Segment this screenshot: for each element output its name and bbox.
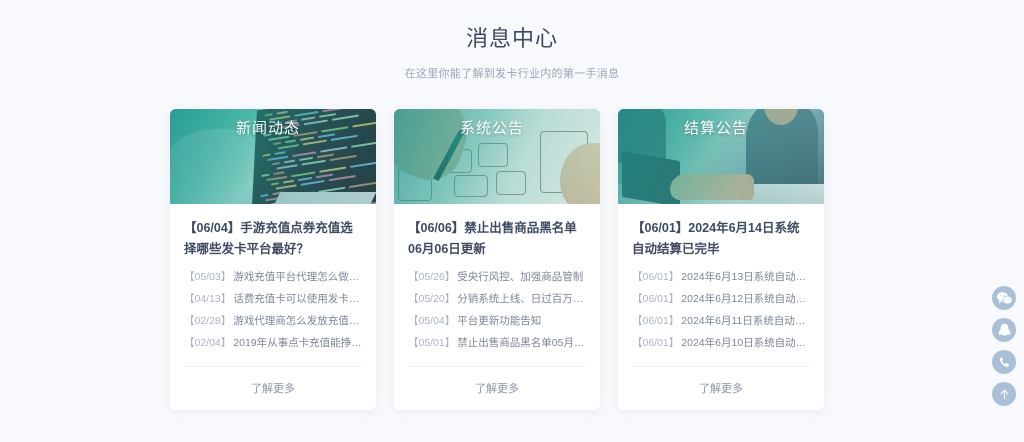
page-root: 消息中心 在这里你能了解到发卡行业内的第一手消息 新闻动态 【06/04】手游充… <box>0 0 1024 442</box>
list-item-text: 游戏代理商怎么发放充值码？发卡... <box>233 310 362 332</box>
list-item[interactable]: 【02/28】 游戏代理商怎么发放充值码？发卡... <box>184 310 362 332</box>
card-banner: 系统公告 <box>394 109 600 204</box>
card-headline[interactable]: 【06/01】2024年6月14日系统自动结算已完毕 <box>618 204 824 260</box>
back-to-top-icon <box>998 388 1011 401</box>
list-item[interactable]: 【06/01】 2024年6月13日系统自动结算已完毕 <box>632 266 810 288</box>
list-item-date: 【06/01】 <box>632 266 679 288</box>
qq-button[interactable] <box>992 318 1016 342</box>
list-item[interactable]: 【04/13】 话费充值卡可以使用发卡网发放吗？ <box>184 288 362 310</box>
list-item-date: 【06/01】 <box>632 288 679 310</box>
learn-more-button[interactable]: 了解更多 <box>632 366 810 410</box>
list-item-text: 2019年从事点卡充值能挣钱吗？发... <box>233 332 362 354</box>
list-item-text: 游戏充值平台代理怎么做？怎么找... <box>233 266 362 288</box>
wechat-button[interactable] <box>992 286 1016 310</box>
news-card[interactable]: 结算公告 【06/01】2024年6月14日系统自动结算已完毕 【06/01】 … <box>618 109 824 410</box>
wechat-icon <box>997 292 1012 305</box>
back-to-top-button[interactable] <box>992 382 1016 406</box>
card-headline[interactable]: 【06/06】禁止出售商品黑名单06月06日更新 <box>394 204 600 260</box>
list-item-date: 【04/13】 <box>184 288 231 310</box>
list-item[interactable]: 【06/01】 2024年6月10日系统自动结算已完毕 <box>632 332 810 354</box>
news-card[interactable]: 系统公告 【06/06】禁止出售商品黑名单06月06日更新 【05/26】 受央… <box>394 109 600 410</box>
list-item-date: 【02/28】 <box>184 310 231 332</box>
banner-label: 新闻动态 <box>170 117 366 138</box>
list-item-date: 【06/01】 <box>632 332 679 354</box>
list-item-date: 【06/01】 <box>632 310 679 332</box>
list-item[interactable]: 【05/26】 受央行风控、加强商品管制 <box>408 266 586 288</box>
list-item[interactable]: 【02/04】 2019年从事点卡充值能挣钱吗？发... <box>184 332 362 354</box>
list-item-text: 分销系统上线、日过百万不是梦 <box>457 288 586 310</box>
list-item-text: 2024年6月11日系统自动结算已完毕 <box>681 310 810 332</box>
learn-more-button[interactable]: 了解更多 <box>408 366 586 410</box>
list-item[interactable]: 【05/20】 分销系统上线、日过百万不是梦 <box>408 288 586 310</box>
list-item-text: 2024年6月12日系统自动结算已完毕 <box>681 288 810 310</box>
page-subtitle: 在这里你能了解到发卡行业内的第一手消息 <box>0 65 1024 81</box>
card-news-list: 【05/26】 受央行风控、加强商品管制 【05/20】 分销系统上线、日过百万… <box>394 260 600 354</box>
card-news-list: 【05/03】 游戏充值平台代理怎么做？怎么找... 【04/13】 话费充值卡… <box>170 260 376 354</box>
list-item[interactable]: 【05/01】 禁止出售商品黑名单05月01日更新 <box>408 332 586 354</box>
list-item-date: 【05/01】 <box>408 332 455 354</box>
news-card-list: 新闻动态 【06/04】手游充值点券充值选择哪些发卡平台最好？ 【05/03】 … <box>170 109 824 410</box>
qq-icon <box>998 323 1011 338</box>
list-item-text: 2024年6月10日系统自动结算已完毕 <box>681 332 810 354</box>
card-banner: 新闻动态 <box>170 109 376 204</box>
list-item[interactable]: 【05/04】 平台更新功能告知 <box>408 310 586 332</box>
list-item-date: 【05/03】 <box>184 266 231 288</box>
learn-more-button[interactable]: 了解更多 <box>184 366 362 410</box>
list-item-date: 【05/04】 <box>408 310 455 332</box>
list-item-text: 平台更新功能告知 <box>457 310 541 332</box>
card-banner: 结算公告 <box>618 109 824 204</box>
card-news-list: 【06/01】 2024年6月13日系统自动结算已完毕 【06/01】 2024… <box>618 260 824 354</box>
news-card[interactable]: 新闻动态 【06/04】手游充值点券充值选择哪些发卡平台最好？ 【05/03】 … <box>170 109 376 410</box>
list-item[interactable]: 【06/01】 2024年6月11日系统自动结算已完毕 <box>632 310 810 332</box>
banner-label: 系统公告 <box>394 117 590 138</box>
list-item-text: 话费充值卡可以使用发卡网发放吗？ <box>233 288 362 310</box>
list-item-date: 【02/04】 <box>184 332 231 354</box>
banner-label: 结算公告 <box>618 117 814 138</box>
phone-button[interactable] <box>992 350 1016 374</box>
phone-icon <box>998 356 1011 369</box>
list-item[interactable]: 【05/03】 游戏充值平台代理怎么做？怎么找... <box>184 266 362 288</box>
page-title: 消息中心 <box>0 24 1024 54</box>
floating-action-stack <box>992 286 1016 406</box>
page-header: 消息中心 在这里你能了解到发卡行业内的第一手消息 <box>0 0 1024 81</box>
list-item-text: 受央行风控、加强商品管制 <box>457 266 583 288</box>
list-item-text: 禁止出售商品黑名单05月01日更新 <box>457 332 586 354</box>
list-item[interactable]: 【06/01】 2024年6月12日系统自动结算已完毕 <box>632 288 810 310</box>
list-item-date: 【05/26】 <box>408 266 455 288</box>
list-item-date: 【05/20】 <box>408 288 455 310</box>
list-item-text: 2024年6月13日系统自动结算已完毕 <box>681 266 810 288</box>
card-headline[interactable]: 【06/04】手游充值点券充值选择哪些发卡平台最好？ <box>170 204 376 260</box>
